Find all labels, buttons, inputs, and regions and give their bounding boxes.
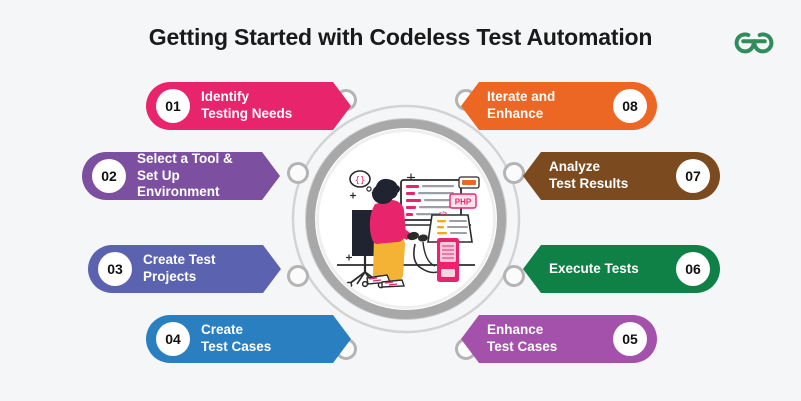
- step-label-04: Create Test Cases: [201, 322, 271, 356]
- center-illustration-frame: {}: [319, 132, 493, 306]
- svg-text:{}: {}: [355, 176, 366, 186]
- step-number-08: 08: [613, 89, 647, 123]
- ring-node-7: [503, 162, 525, 184]
- step-label-07: Analyze Test Results: [549, 159, 628, 193]
- geeksforgeeks-logo: [725, 22, 783, 56]
- step-number-03: 03: [98, 252, 132, 286]
- step-banner-06[interactable]: Execute Tests06: [523, 245, 720, 293]
- step-number-07: 07: [676, 159, 710, 193]
- step-banner-05[interactable]: Enhance Test Cases05: [461, 315, 657, 363]
- step-number-05: 05: [613, 322, 647, 356]
- page-title: Getting Started with Codeless Test Autom…: [0, 24, 801, 51]
- step-label-05: Enhance Test Cases: [487, 322, 557, 356]
- step-banner-04[interactable]: 04Create Test Cases: [146, 315, 351, 363]
- step-number-04: 04: [156, 322, 190, 356]
- step-label-03: Create Test Projects: [143, 252, 216, 286]
- step-number-02: 02: [92, 159, 126, 193]
- ring-node-2: [287, 162, 309, 184]
- svg-text:</>: </>: [439, 211, 447, 217]
- step-label-02: Select a Tool & Set Up Environment: [137, 151, 254, 202]
- step-number-06: 06: [676, 252, 710, 286]
- step-banner-03[interactable]: 03Create Test Projects: [88, 245, 281, 293]
- developer-at-desk-illustration: {}: [319, 132, 493, 306]
- svg-text:PHP: PHP: [455, 198, 472, 207]
- ring-node-6: [503, 265, 525, 287]
- step-label-01: Identify Testing Needs: [201, 89, 292, 123]
- step-label-08: Iterate and Enhance: [487, 89, 555, 123]
- step-banner-08[interactable]: Iterate and Enhance08: [461, 82, 657, 130]
- infographic-canvas: Getting Started with Codeless Test Autom…: [0, 0, 801, 401]
- step-number-01: 01: [156, 89, 190, 123]
- step-banner-07[interactable]: Analyze Test Results07: [523, 152, 720, 200]
- ring-node-3: [287, 265, 309, 287]
- step-banner-01[interactable]: 01Identify Testing Needs: [146, 82, 351, 130]
- step-banner-02[interactable]: 02Select a Tool & Set Up Environment: [82, 152, 280, 200]
- step-label-06: Execute Tests: [549, 261, 639, 278]
